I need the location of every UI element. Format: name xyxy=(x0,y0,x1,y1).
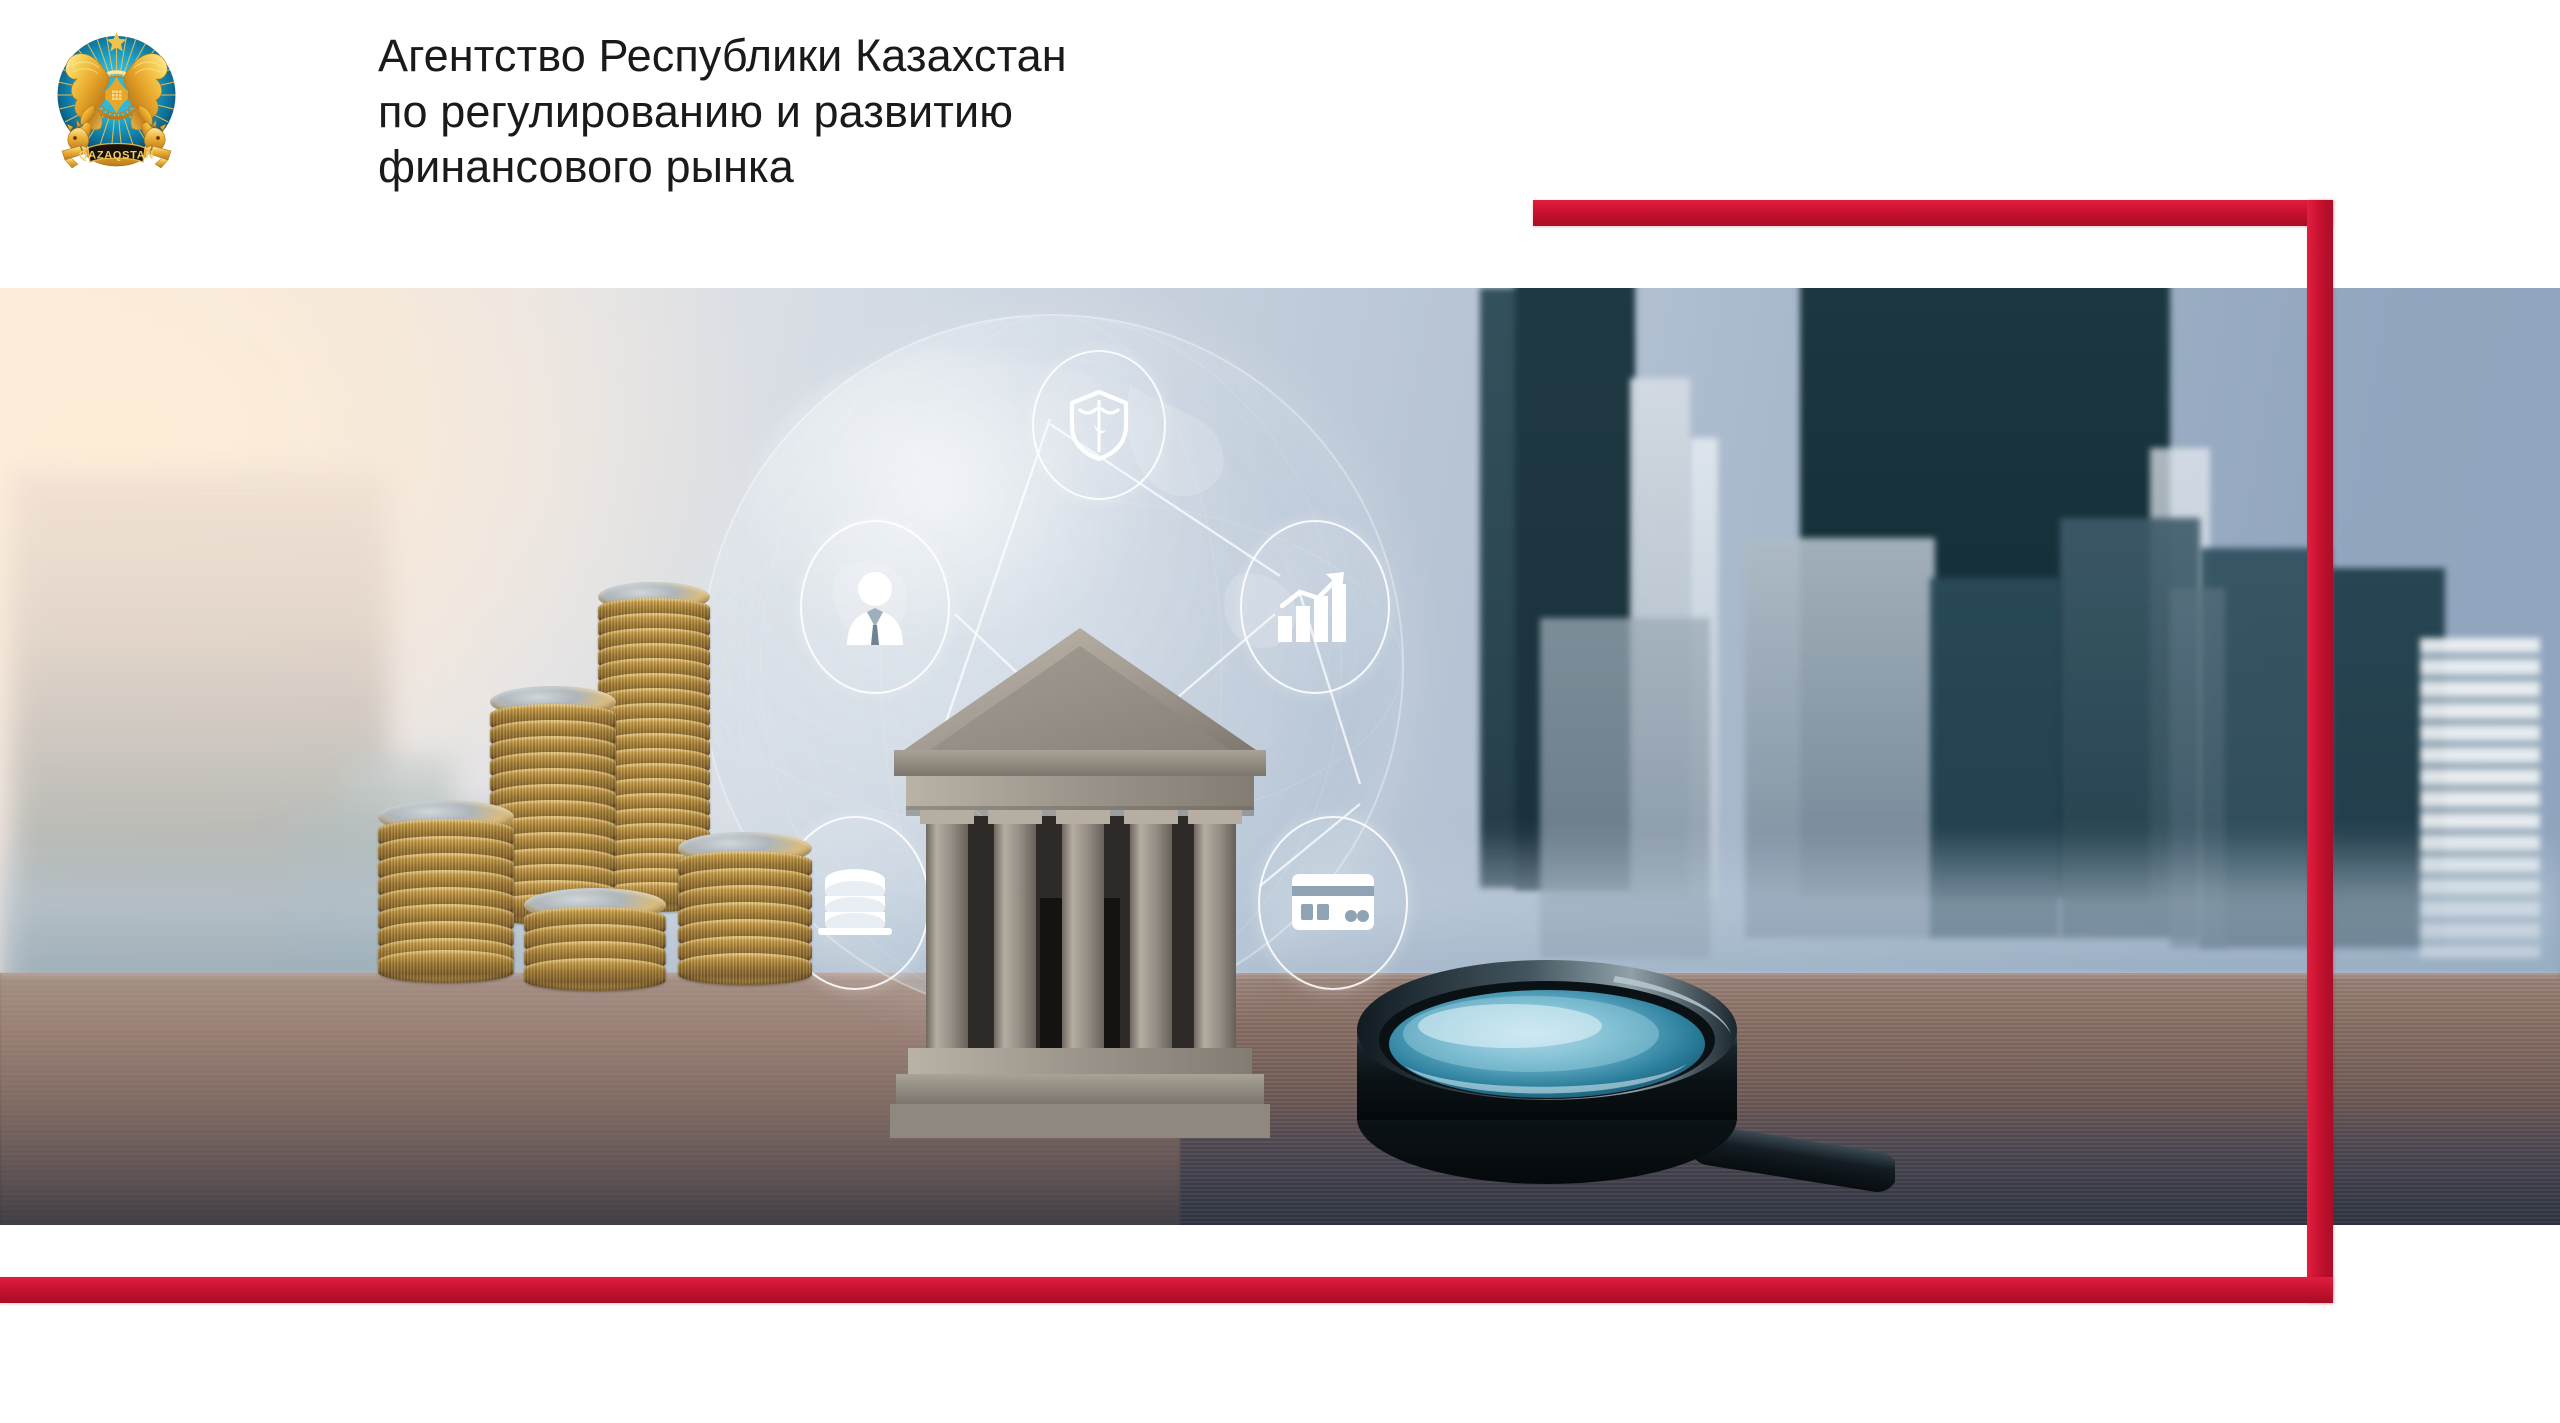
coat-of-arms-glyph: QAZAQSTAN xyxy=(55,20,178,178)
page-header: QAZAQSTAN Агентство Республики Казахстан… xyxy=(0,0,2560,288)
coin-stack xyxy=(678,832,812,992)
growth-chart-glyph xyxy=(1274,568,1356,646)
coin-stack xyxy=(524,888,666,998)
shield-icon xyxy=(1032,350,1166,500)
coat-of-arms-inscription: QAZAQSTAN xyxy=(79,150,154,162)
page-title: Агентство Республики Казахстан по регули… xyxy=(378,28,1498,195)
coins-stack-glyph xyxy=(812,864,898,942)
coin-stack xyxy=(378,800,514,980)
magnifying-glass xyxy=(1335,918,1895,1218)
kazakhstan-coat-of-arms-icon: QAZAQSTAN xyxy=(55,20,178,178)
shield-glyph xyxy=(1066,388,1132,462)
red-frame-right-bar xyxy=(2307,200,2333,1303)
bottom-white-strip xyxy=(0,1225,2560,1423)
hero-photo xyxy=(0,288,2560,1225)
red-frame-top-bar xyxy=(1533,200,2333,226)
red-frame-bottom-bar xyxy=(0,1277,2333,1303)
bank-building xyxy=(890,618,1270,1138)
